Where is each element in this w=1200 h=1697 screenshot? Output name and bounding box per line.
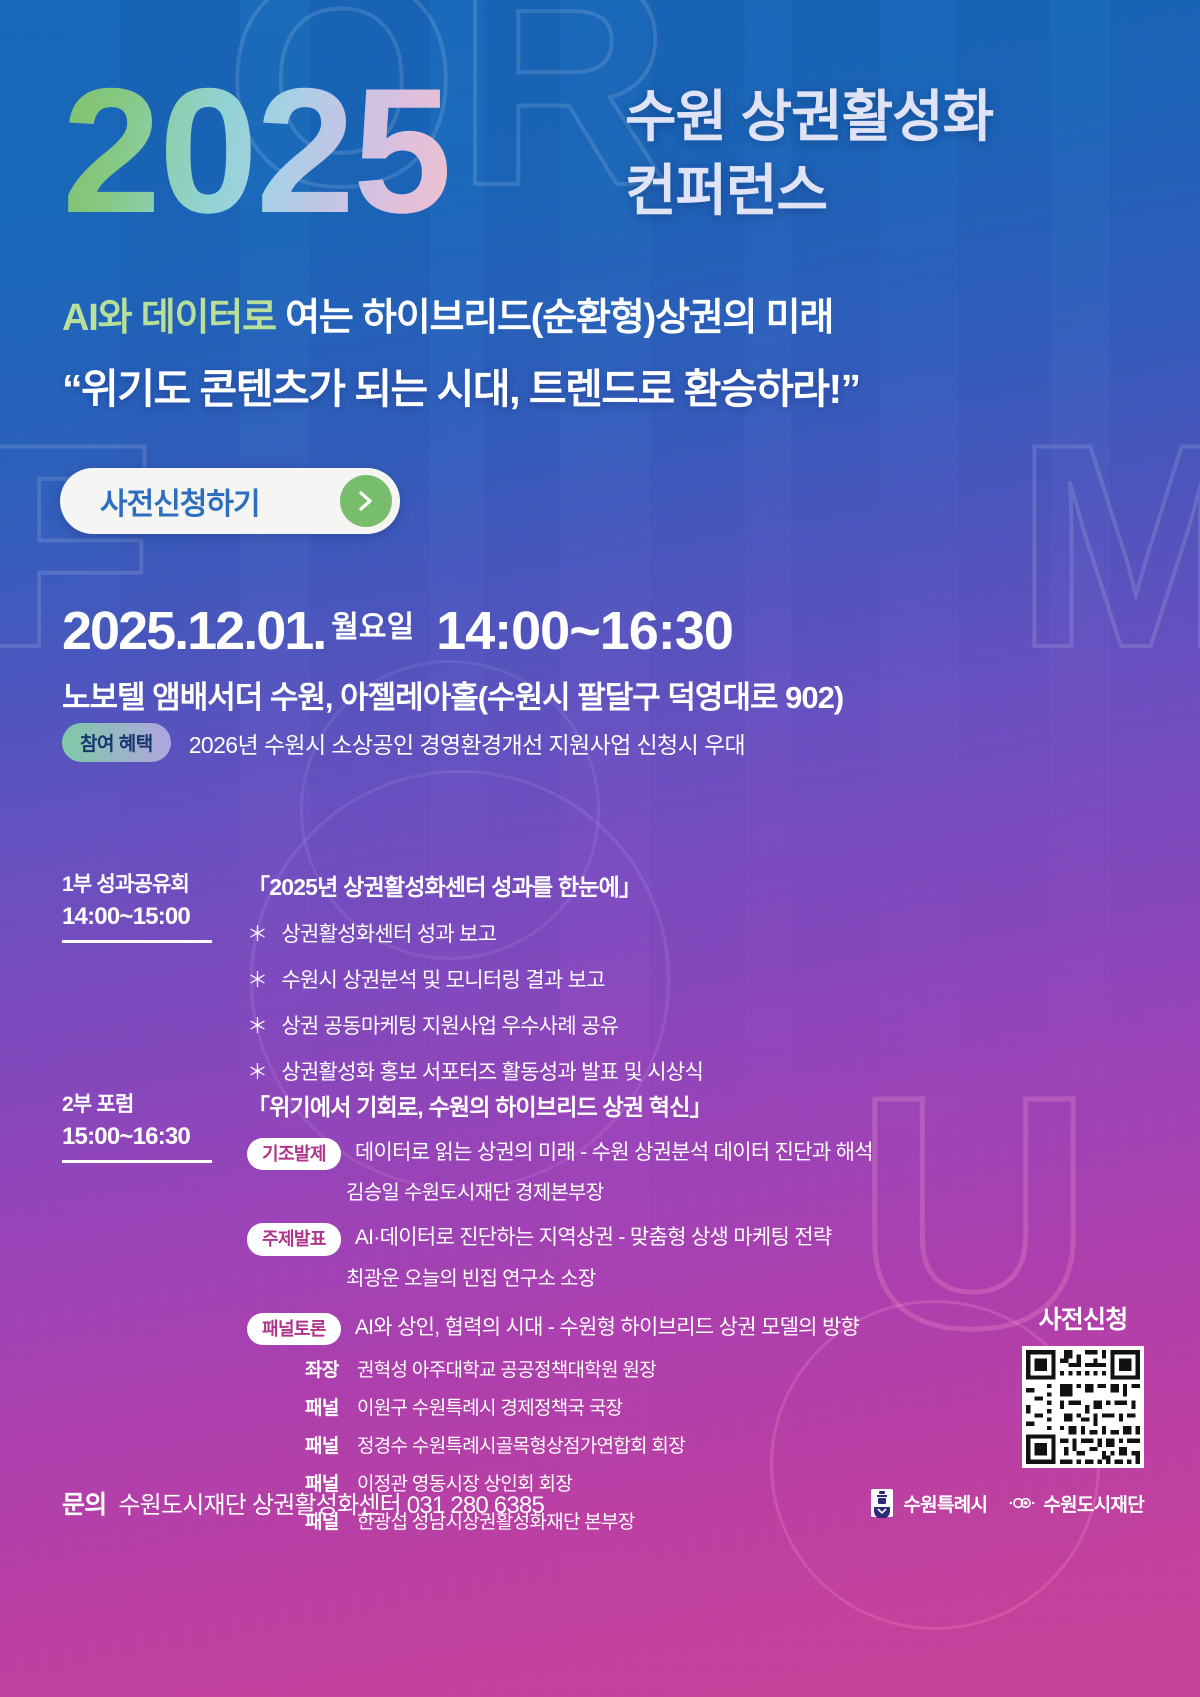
list-item-label: 상권활성화센터 성과 보고	[281, 918, 496, 948]
session-2-name: 2부 포럼	[62, 1088, 247, 1118]
suwon-foundation-emblem-icon	[1009, 1488, 1035, 1518]
session-1-time: 14:00~15:00	[62, 903, 247, 931]
qr-label: 사전신청	[1022, 1300, 1144, 1336]
session-2-time: 15:00~16:30	[62, 1123, 247, 1151]
talk-keynote-row: 기조발제 데이터로 읽는 상권의 미래 - 수원 상권분석 데이터 진단과 해석	[247, 1138, 942, 1170]
poster-year: 2025	[62, 62, 450, 240]
session-1: 1부 성과공유회 14:00~15:00 「2025년 상권활성화센터 성과를 …	[62, 868, 862, 1102]
list-item: 좌장 권혁성 아주대학교 공공정책대학원 원장	[305, 1355, 942, 1382]
talk-panel-row: 패널토론 AI와 상인, 협력의 시대 - 수원형 하이브리드 상권 모델의 방…	[247, 1313, 942, 1345]
session-1-name: 1부 성과공유회	[62, 868, 247, 898]
subtitle-rest: 여는 하이브리드(순환형)상권의 미래	[276, 297, 833, 339]
panel-role: 패널	[305, 1393, 357, 1420]
logo-suwon-foundation-label: 수원도시재단	[1043, 1490, 1144, 1517]
logo-suwon-city: 수원특례시	[869, 1488, 987, 1518]
pre-register-button[interactable]: 사전신청하기	[60, 468, 400, 534]
contact-text: 수원도시재단 상권활성화센터 031 280 6385	[118, 1485, 544, 1520]
session-2-rule	[62, 1160, 212, 1163]
event-datetime: 2025.12.01. 월요일 14:00~16:30	[62, 600, 733, 662]
list-item-label: 상권 공동마케팅 지원사업 우수사례 공유	[281, 1010, 618, 1040]
list-item: ＊ 상권활성화센터 성과 보고	[247, 918, 862, 948]
benefit-text: 2026년 수원시 소상공인 경영환경개선 지원사업 신청시 우대	[189, 726, 745, 760]
panel-name: 정경수 수원특례시골목형상점가연합회 회장	[357, 1431, 685, 1458]
footer: 문의 수원도시재단 상권활성화센터 031 280 6385	[62, 1485, 1144, 1521]
page-title-line1: 수원 상권활성화	[625, 80, 993, 154]
poster-root: F O R U M 2025 수원 상권활성화 컨퍼런스 AI와 데이터로 여는…	[0, 0, 1200, 1697]
benefit-badge: 참여 혜택	[62, 723, 171, 762]
talk-keynote-tag: 기조발제	[247, 1138, 341, 1170]
session-1-body: 「2025년 상권활성화센터 성과를 한눈에」 ＊ 상권활성화센터 성과 보고 …	[247, 868, 862, 1102]
list-item-label: 수원시 상권분석 및 모니터링 결과 보고	[281, 964, 605, 994]
talk-panel-title: AI와 상인, 협력의 시대 - 수원형 하이브리드 상권 모델의 방향	[355, 1313, 859, 1342]
session-1-rule	[62, 940, 212, 943]
session-2-meta: 2부 포럼 15:00~16:30	[62, 1088, 247, 1552]
talk-keynote-title: 데이터로 읽는 상권의 미래 - 수원 상권분석 데이터 진단과 해석	[355, 1138, 873, 1167]
contact-label: 문의	[62, 1485, 106, 1521]
event-time: 14:00~16:30	[436, 600, 733, 662]
background-letter-m: M	[1015, 430, 1200, 662]
event-date: 2025.12.01.	[62, 600, 325, 662]
session-2: 2부 포럼 15:00~16:30 「위기에서 기회로, 수원의 하이브리드 상…	[62, 1088, 942, 1552]
qr-code-icon[interactable]	[1022, 1346, 1144, 1468]
event-venue: 노보텔 앰배서더 수원, 아젤레아홀(수원시 팔달구 덕영대로 902)	[62, 672, 843, 717]
asterisk-icon: ＊	[247, 964, 267, 994]
logo-group: 수원특례시 수원도시재단	[869, 1488, 1144, 1518]
list-item-label: 상권활성화 홍보 서포터즈 활동성과 발표 및 시상식	[281, 1056, 703, 1086]
session-1-heading: 「2025년 상권활성화센터 성과를 한눈에」	[247, 868, 862, 902]
talk-presentation-row: 주제발표 AI·데이터로 진단하는 지역상권 - 맞춤형 상생 마케팅 전략	[247, 1223, 942, 1255]
list-item: ＊ 상권 공동마케팅 지원사업 우수사례 공유	[247, 1010, 862, 1040]
event-day: 월요일	[331, 602, 414, 646]
talk-presentation-title: AI·데이터로 진단하는 지역상권 - 맞춤형 상생 마케팅 전략	[355, 1223, 832, 1252]
talk-keynote: 기조발제 데이터로 읽는 상권의 미래 - 수원 상권분석 데이터 진단과 해석…	[247, 1138, 942, 1205]
suwon-city-emblem-icon	[869, 1488, 895, 1518]
qr-block: 사전신청	[1022, 1300, 1144, 1468]
benefit-row: 참여 혜택 2026년 수원시 소상공인 경영환경개선 지원사업 신청시 우대	[62, 723, 745, 762]
contact-block: 문의 수원도시재단 상권활성화센터 031 280 6385	[62, 1485, 544, 1521]
asterisk-icon: ＊	[247, 1056, 267, 1086]
chevron-right-icon	[340, 475, 392, 527]
subtitle: AI와 데이터로 여는 하이브리드(순환형)상권의 미래	[62, 295, 833, 343]
talk-presentation-tag: 주제발표	[247, 1223, 341, 1255]
logo-suwon-foundation: 수원도시재단	[1009, 1488, 1144, 1518]
talk-panel-tag: 패널토론	[247, 1313, 341, 1345]
panel-name: 이원구 수원특례시 경제정책국 국장	[357, 1393, 622, 1420]
tagline: “위기도 콘텐츠가 되는 시대, 트렌드로 환승하라!”	[62, 355, 860, 415]
logo-suwon-city-label: 수원특례시	[903, 1490, 987, 1517]
list-item: 패널 정경수 수원특례시골목형상점가연합회 회장	[305, 1431, 942, 1458]
talk-presentation: 주제발표 AI·데이터로 진단하는 지역상권 - 맞춤형 상생 마케팅 전략 최…	[247, 1223, 942, 1290]
list-item: 패널 이원구 수원특례시 경제정책국 국장	[305, 1393, 942, 1420]
asterisk-icon: ＊	[247, 1010, 267, 1040]
asterisk-icon: ＊	[247, 918, 267, 948]
list-item: ＊ 수원시 상권분석 및 모니터링 결과 보고	[247, 964, 862, 994]
panel-name: 권혁성 아주대학교 공공정책대학원 원장	[357, 1355, 656, 1382]
panel-role: 패널	[305, 1431, 357, 1458]
pre-register-button-label: 사전신청하기	[100, 479, 340, 523]
session-1-meta: 1부 성과공유회 14:00~15:00	[62, 868, 247, 1102]
talk-presentation-speaker: 최광운 오늘의 빈집 연구소 소장	[346, 1262, 942, 1291]
panel-role: 좌장	[305, 1355, 357, 1382]
page-title: 수원 상권활성화 컨퍼런스	[625, 80, 993, 228]
list-item: ＊ 상권활성화 홍보 서포터즈 활동성과 발표 및 시상식	[247, 1056, 862, 1086]
subtitle-accent: AI와 데이터로	[62, 297, 276, 339]
session-2-body: 「위기에서 기회로, 수원의 하이브리드 상권 혁신」 기조발제 데이터로 읽는…	[247, 1088, 942, 1552]
session-2-heading: 「위기에서 기회로, 수원의 하이브리드 상권 혁신」	[247, 1088, 942, 1122]
talk-keynote-speaker: 김승일 수원도시재단 경제본부장	[346, 1176, 942, 1205]
page-title-line2: 컨퍼런스	[625, 154, 993, 228]
